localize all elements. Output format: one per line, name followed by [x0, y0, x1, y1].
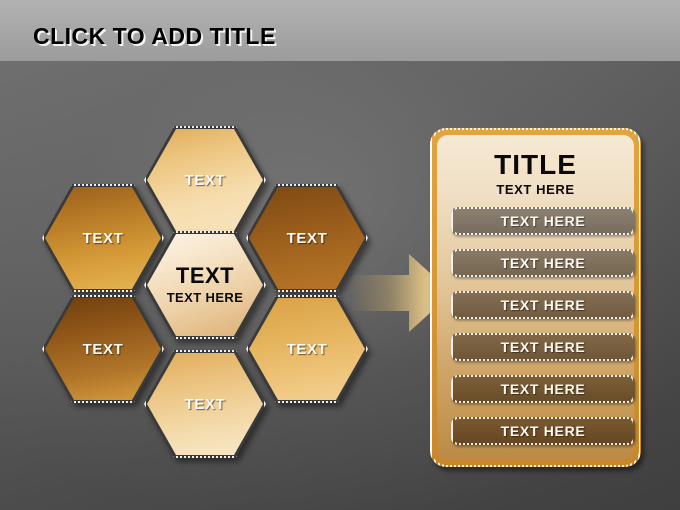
panel-row-label: TEXT HERE — [451, 333, 635, 361]
hexagon-upper-right-fill — [249, 187, 365, 289]
hexagon-lower-right-fill — [249, 298, 365, 400]
page-title[interactable]: CLICK TO ADD TITLE — [33, 23, 276, 50]
hexagon-center-border — [144, 231, 266, 339]
panel-row[interactable]: TEXT HERE — [451, 207, 635, 235]
hexagon-bottom-border — [144, 350, 266, 458]
result-panel-subtitle[interactable]: TEXT HERE — [437, 182, 634, 197]
hexagon-center-fill — [147, 234, 263, 336]
panel-row[interactable]: TEXT HERE — [451, 249, 635, 277]
panel-row[interactable]: TEXT HERE — [451, 333, 635, 361]
hexagon-bottom[interactable]: TEXT — [144, 350, 266, 458]
panel-row[interactable]: TEXT HERE — [451, 417, 635, 445]
panel-row-label: TEXT HERE — [451, 417, 635, 445]
result-panel[interactable]: TITLE TEXT HERE TEXT HERE TEXT HERE TEXT… — [430, 128, 641, 467]
slide-canvas: CLICK TO ADD TITLE TEXT TEXT TEXT — [0, 0, 680, 510]
hexagon-center[interactable]: TEXT TEXT HERE — [144, 231, 266, 339]
result-panel-title[interactable]: TITLE — [437, 149, 634, 181]
panel-row[interactable]: TEXT HERE — [451, 291, 635, 319]
panel-row-label: TEXT HERE — [451, 375, 635, 403]
result-panel-face: TITLE TEXT HERE TEXT HERE TEXT HERE TEXT… — [437, 135, 634, 460]
panel-row[interactable]: TEXT HERE — [451, 375, 635, 403]
hexagon-bottom-fill — [147, 353, 263, 455]
panel-row-label: TEXT HERE — [451, 207, 635, 235]
panel-row-label: TEXT HERE — [451, 249, 635, 277]
panel-row-label: TEXT HERE — [451, 291, 635, 319]
